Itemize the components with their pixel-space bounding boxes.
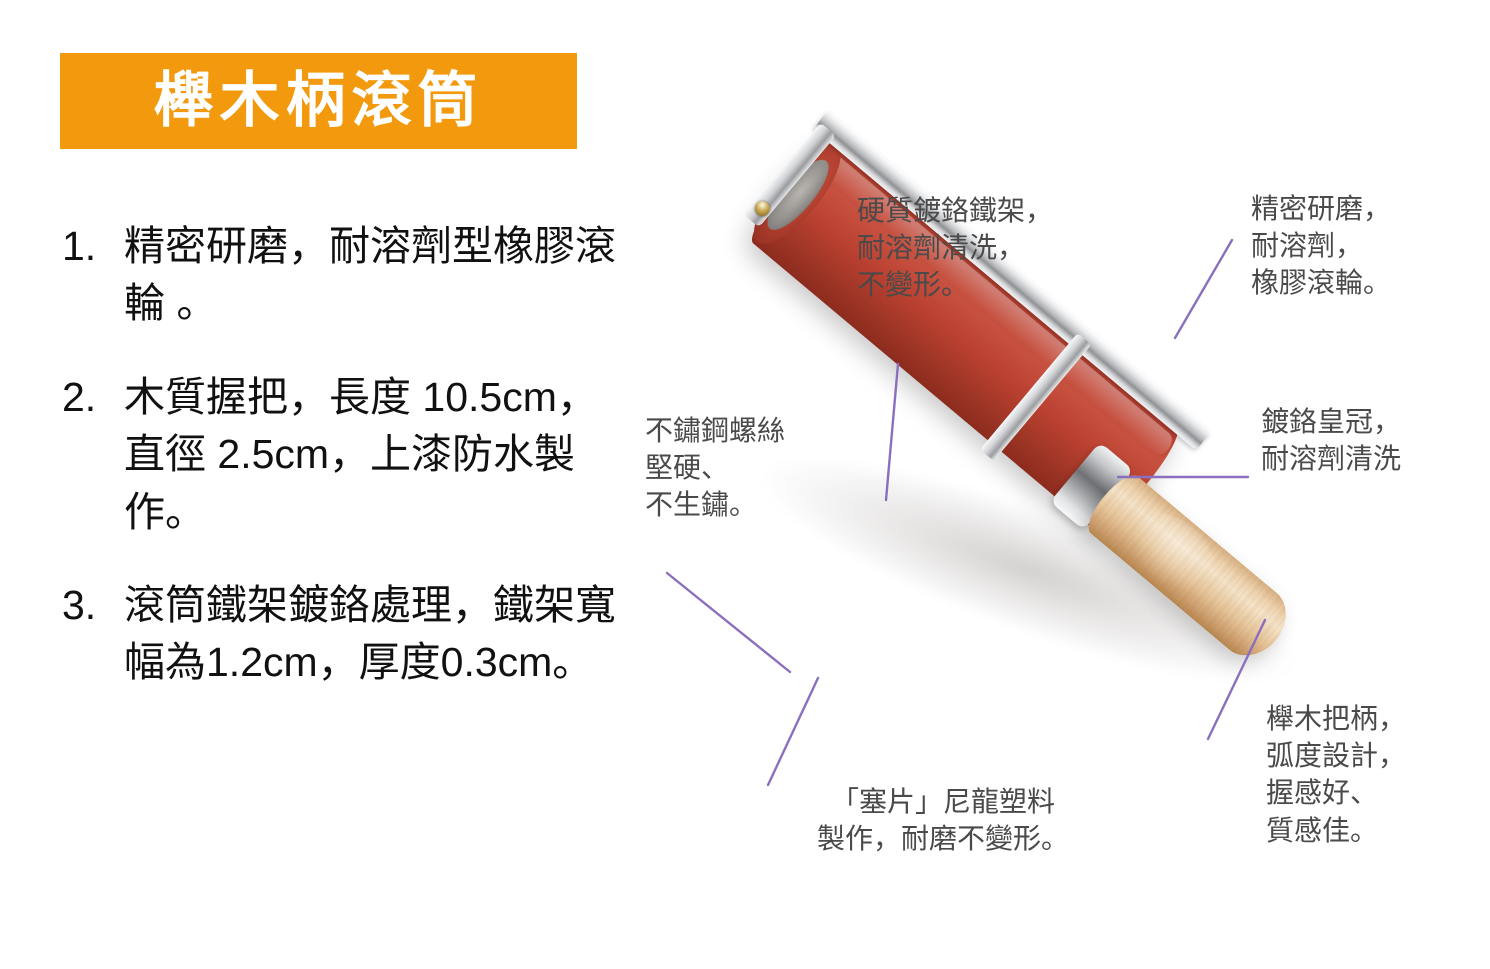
list-item: 1. 精密研磨，耐溶劑型橡膠滾輪 。 <box>62 218 622 333</box>
feature-list: 1. 精密研磨，耐溶劑型橡膠滾輪 。 2. 木質握把，長度 10.5cm，直徑 … <box>62 218 622 728</box>
list-item-label: 滾筒鐵架鍍鉻處理，鐵架寬幅為1.2cm，厚度0.3cm。 <box>124 577 622 692</box>
callout-stainless-screw: 不鏽鋼螺絲 堅硬、 不生鏽。 <box>645 412 860 524</box>
callout-beech-handle: 櫸木把柄， 弧度設計， 握感好、 質感佳。 <box>1266 700 1486 849</box>
callout-chrome-crown: 鍍鉻皇冠， 耐溶劑清洗 <box>1261 403 1486 477</box>
list-item-label: 精密研磨，耐溶劑型橡膠滾輪 。 <box>124 218 622 333</box>
callout-rubber-roller: 精密研磨， 耐溶劑， 橡膠滾輪。 <box>1251 190 1486 302</box>
callout-nylon-plug: 「塞片」尼龍塑料 製作，耐磨不變形。 <box>778 783 1108 857</box>
callout-chrome-frame: 硬質鍍鉻鐵架， 耐溶劑清洗， 不變形。 <box>857 192 1127 304</box>
list-item-number: 2. <box>62 369 124 426</box>
list-item-number: 3. <box>62 577 124 634</box>
list-item: 3. 滾筒鐵架鍍鉻處理，鐵架寬幅為1.2cm，厚度0.3cm。 <box>62 577 622 692</box>
title-banner: 櫸木柄滾筒 <box>60 53 577 149</box>
list-item: 2. 木質握把，長度 10.5cm，直徑 2.5cm，上漆防水製作。 <box>62 369 622 541</box>
list-item-number: 1. <box>62 218 124 275</box>
page-title: 櫸木柄滾筒 <box>154 71 484 131</box>
list-item-label: 木質握把，長度 10.5cm，直徑 2.5cm，上漆防水製作。 <box>124 369 622 541</box>
